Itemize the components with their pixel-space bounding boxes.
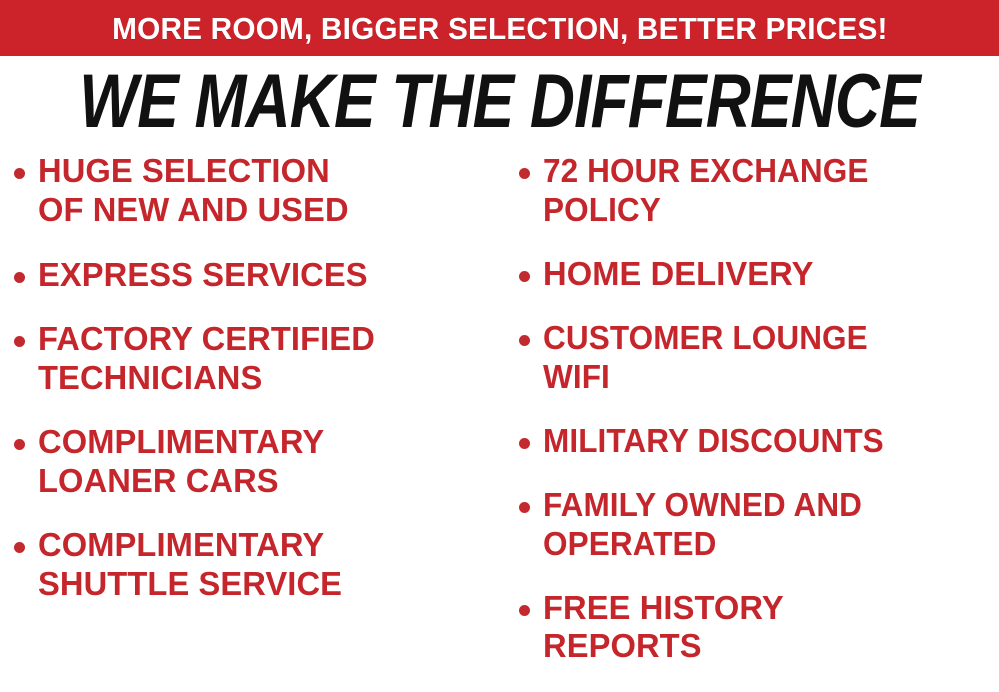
list-item: FREE HISTORY REPORTS: [519, 589, 999, 667]
benefits-column-left: HUGE SELECTION OF NEW AND USED EXPRESS S…: [0, 152, 505, 692]
list-item-label: COMPLIMENTARY LOANER CARS: [38, 423, 500, 501]
top-promo-bar: MORE ROOM, BIGGER SELECTION, BETTER PRIC…: [0, 0, 999, 56]
list-item-line: CUSTOMER LOUNGE: [543, 319, 978, 358]
list-item-line: MILITARY DISCOUNTS: [543, 422, 978, 461]
list-item: FACTORY CERTIFIED TECHNICIANS: [14, 320, 505, 398]
list-item-line: REPORTS: [543, 627, 994, 666]
list-item: FAMILY OWNED AND OPERATED: [519, 486, 999, 564]
list-item-line: WIFI: [543, 358, 978, 397]
list-item-label: MILITARY DISCOUNTS: [543, 422, 978, 461]
list-item-label: FACTORY CERTIFIED TECHNICIANS: [38, 320, 500, 398]
benefits-column-right: 72 HOUR EXCHANGE POLICY HOME DELIVERY CU…: [505, 152, 999, 692]
list-item-label: HOME DELIVERY: [543, 255, 994, 294]
list-item: COMPLIMENTARY LOANER CARS: [14, 423, 505, 501]
list-item: HOME DELIVERY: [519, 255, 999, 294]
list-item-line: FACTORY CERTIFIED: [38, 320, 500, 359]
dealership-promo-banner: MORE ROOM, BIGGER SELECTION, BETTER PRIC…: [0, 0, 999, 692]
list-item-label: CUSTOMER LOUNGE WIFI: [543, 319, 978, 397]
list-item: 72 HOUR EXCHANGE POLICY: [519, 152, 999, 230]
top-promo-bar-text: MORE ROOM, BIGGER SELECTION, BETTER PRIC…: [112, 13, 887, 44]
list-item-line: COMPLIMENTARY: [38, 423, 500, 462]
list-item-line: SHUTTLE SERVICE: [38, 565, 500, 604]
list-item: CUSTOMER LOUNGE WIFI: [519, 319, 999, 397]
bullet-dot-icon: [14, 272, 25, 283]
list-item-line: OPERATED: [543, 525, 978, 564]
bullet-dot-icon: [14, 542, 25, 553]
bullet-dot-icon: [519, 605, 530, 616]
bullet-dot-icon: [519, 502, 530, 513]
benefits-columns: HUGE SELECTION OF NEW AND USED EXPRESS S…: [0, 152, 999, 692]
list-item-line: FAMILY OWNED AND: [543, 486, 978, 525]
list-item-label: FREE HISTORY REPORTS: [543, 589, 994, 667]
list-item-label: 72 HOUR EXCHANGE POLICY: [543, 152, 978, 230]
list-item-label: COMPLIMENTARY SHUTTLE SERVICE: [38, 526, 500, 604]
list-item: COMPLIMENTARY SHUTTLE SERVICE: [14, 526, 505, 604]
list-item: HUGE SELECTION OF NEW AND USED: [14, 152, 505, 230]
list-item-label: HUGE SELECTION OF NEW AND USED: [38, 152, 500, 230]
page-title: WE MAKE THE DIFFERENCE: [79, 64, 920, 140]
list-item-label: FAMILY OWNED AND OPERATED: [543, 486, 978, 564]
list-item-line: OF NEW AND USED: [38, 191, 500, 230]
list-item-line: FREE HISTORY: [543, 589, 994, 628]
list-item-line: HOME DELIVERY: [543, 255, 994, 294]
bullet-dot-icon: [519, 271, 530, 282]
bullet-dot-icon: [519, 438, 530, 449]
list-item-line: EXPRESS SERVICES: [38, 256, 500, 295]
list-item: MILITARY DISCOUNTS: [519, 422, 999, 461]
bullet-dot-icon: [14, 439, 25, 450]
list-item-line: POLICY: [543, 191, 978, 230]
list-item-line: 72 HOUR EXCHANGE: [543, 152, 978, 191]
bullet-dot-icon: [519, 168, 530, 179]
bullet-dot-icon: [14, 336, 25, 347]
bullet-dot-icon: [14, 168, 25, 179]
bullet-dot-icon: [519, 335, 530, 346]
list-item-label: EXPRESS SERVICES: [38, 256, 500, 295]
list-item: EXPRESS SERVICES: [14, 256, 505, 295]
list-item-line: LOANER CARS: [38, 462, 500, 501]
list-item-line: COMPLIMENTARY: [38, 526, 500, 565]
list-item-line: HUGE SELECTION: [38, 152, 500, 191]
headline-container: WE MAKE THE DIFFERENCE: [0, 58, 999, 146]
list-item-line: TECHNICIANS: [38, 359, 500, 398]
